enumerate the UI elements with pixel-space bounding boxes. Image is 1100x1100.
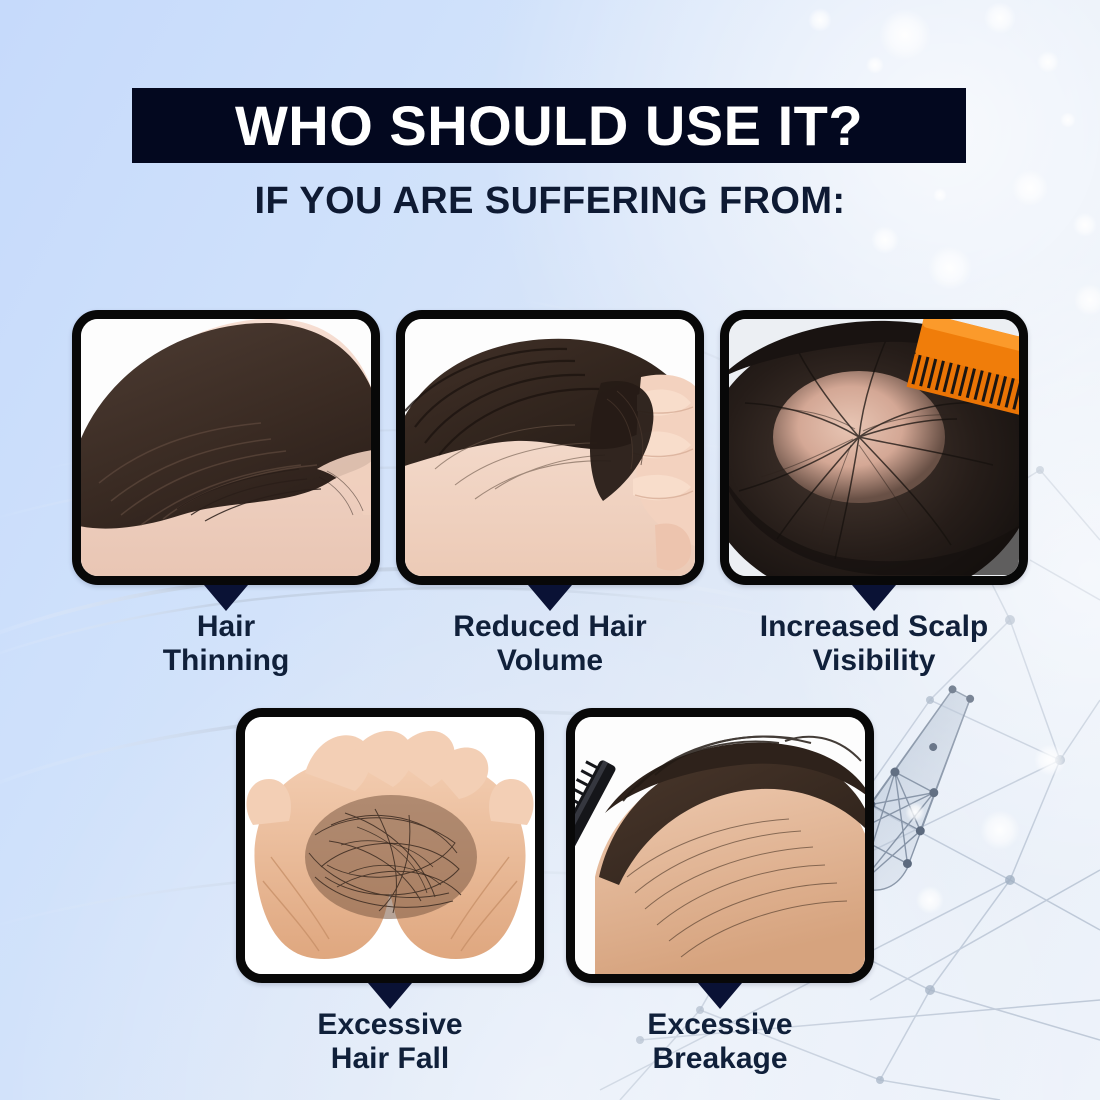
card-reduced-hair-volume[interactable]: Reduced Hair Volume — [396, 310, 704, 585]
caption-increased-scalp-visibility: Increased Scalp Visibility — [760, 610, 988, 677]
photo-hair-thinning — [81, 319, 371, 576]
caption-excessive-hair-fall: Excessive Hair Fall — [317, 1008, 462, 1075]
infographic-canvas: WHO SHOULD USE IT? IF YOU ARE SUFFERING … — [0, 0, 1100, 1100]
photo-frame-hair-thinning — [72, 310, 380, 585]
card-hair-thinning[interactable]: Hair Thinning — [72, 310, 380, 585]
photo-frame-increased-scalp-visibility — [720, 310, 1028, 585]
subheading: IF YOU ARE SUFFERING FROM: — [0, 180, 1100, 223]
photo-excessive-breakage — [575, 717, 865, 974]
caption-reduced-hair-volume: Reduced Hair Volume — [453, 610, 646, 677]
caption-line-1: Excessive — [647, 1008, 792, 1041]
photo-increased-scalp-visibility — [729, 319, 1019, 576]
caption-line-2: Volume — [497, 644, 603, 677]
photo-excessive-hair-fall — [245, 717, 535, 974]
photo-frame-reduced-hair-volume — [396, 310, 704, 585]
caption-line-1: Reduced Hair — [453, 610, 646, 643]
photo-frame-excessive-breakage — [566, 708, 874, 983]
photo-reduced-hair-volume — [405, 319, 695, 576]
fallen-hair-clump — [305, 795, 477, 919]
caption-excessive-breakage: Excessive Breakage — [647, 1008, 792, 1075]
pointer-reduced-hair-volume — [528, 585, 572, 611]
caption-line-2: Visibility — [813, 644, 936, 677]
card-increased-scalp-visibility[interactable]: Increased Scalp Visibility — [720, 310, 1028, 585]
pointer-excessive-breakage — [698, 983, 742, 1009]
card-excessive-hair-fall[interactable]: Excessive Hair Fall — [236, 708, 544, 983]
title-banner: WHO SHOULD USE IT? — [132, 88, 966, 163]
pointer-hair-thinning — [204, 585, 248, 611]
caption-line-2: Breakage — [652, 1042, 787, 1075]
caption-line-1: Increased Scalp — [760, 610, 988, 643]
card-excessive-breakage[interactable]: Excessive Breakage — [566, 708, 874, 983]
caption-hair-thinning: Hair Thinning — [163, 610, 290, 677]
caption-line-1: Excessive — [317, 1008, 462, 1041]
caption-line-2: Thinning — [163, 644, 290, 677]
caption-line-2: Hair Fall — [331, 1042, 449, 1075]
photo-frame-excessive-hair-fall — [236, 708, 544, 983]
pointer-increased-scalp-visibility — [852, 585, 896, 611]
caption-line-1: Hair — [197, 610, 255, 643]
page-title: WHO SHOULD USE IT? — [235, 98, 863, 154]
pointer-excessive-hair-fall — [368, 983, 412, 1009]
